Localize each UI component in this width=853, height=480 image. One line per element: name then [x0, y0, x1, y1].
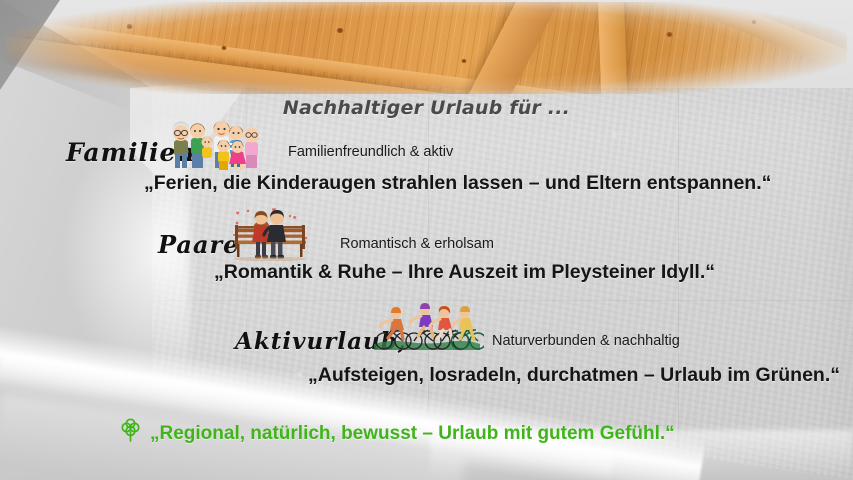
- wood-knot: [461, 59, 467, 63]
- presentation-slide: Nachhaltiger Urlaub für ... Familien: [0, 0, 853, 480]
- slide-headline: Nachhaltiger Urlaub für ...: [0, 97, 853, 119]
- wood-knot: [126, 24, 133, 29]
- wall-seam-horizontal: [152, 300, 853, 301]
- category-quote-aktivurlaub: „Aufsteigen, losradeln, durchatmen – Url…: [308, 364, 840, 387]
- wood-knot: [666, 32, 673, 37]
- wood-knot: [221, 46, 227, 50]
- wood-ceiling-banner: [6, 2, 847, 94]
- wall-seam: [678, 88, 679, 480]
- tree-icon: [118, 418, 144, 444]
- couple-on-bench-illustration: [228, 207, 312, 261]
- footer-quote: „Regional, natürlich, bewusst – Urlaub m…: [150, 423, 675, 445]
- category-subtitle-paare: Romantisch & erholsam: [340, 236, 494, 252]
- category-subtitle-aktivurlaub: Naturverbunden & nachhaltig: [492, 333, 680, 349]
- category-quote-familien: „Ferien, die Kinderaugen strahlen lassen…: [144, 172, 771, 195]
- wood-knot: [336, 28, 344, 33]
- cyclists-illustration: [370, 300, 484, 352]
- category-subtitle-familien: Familienfreundlich & aktiv: [288, 144, 453, 160]
- category-quote-paare: „Romantik & Ruhe – Ihre Auszeit im Pleys…: [214, 261, 715, 284]
- cartoon-family-illustration: [168, 120, 272, 170]
- wood-knot: [751, 20, 757, 24]
